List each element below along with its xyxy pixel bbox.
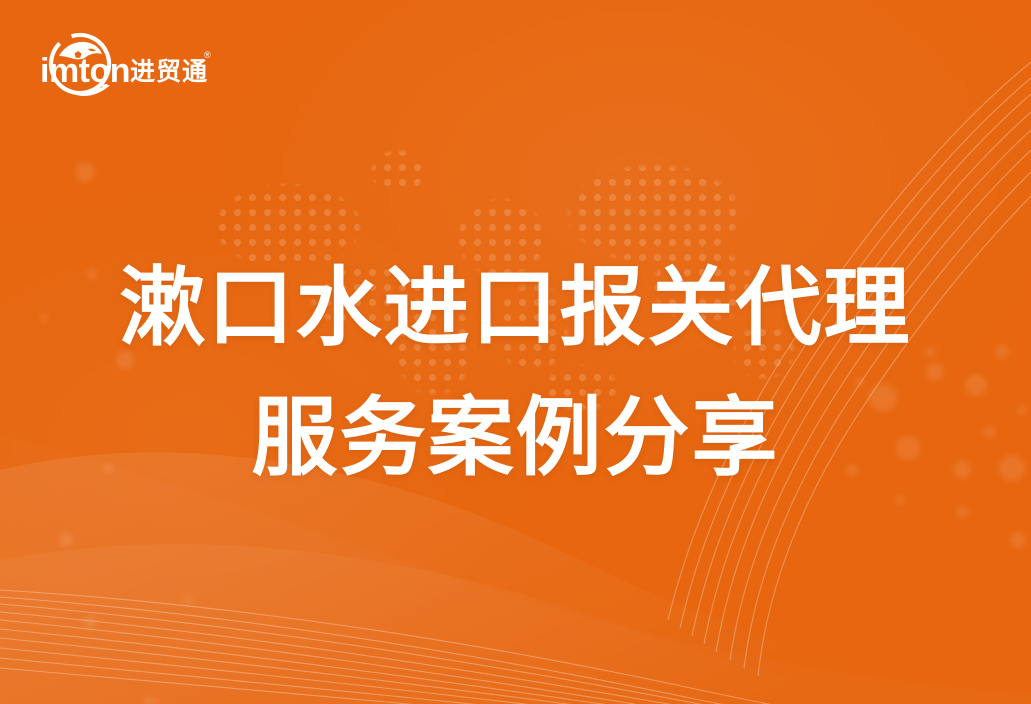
logo-chinese-name: 进贸通	[130, 57, 208, 86]
headline-line-1: 漱口水进口报关代理	[0, 243, 1031, 373]
brand-logo[interactable]: imton 进贸通 ®	[38, 28, 218, 104]
promo-banner: imton 进贸通 ® 漱口水进口报关代理 服务案例分享	[0, 0, 1031, 704]
registered-mark-icon: ®	[204, 50, 211, 60]
logo-wordmark: imton	[40, 52, 130, 90]
headline: 漱口水进口报关代理 服务案例分享	[0, 243, 1031, 503]
headline-line-2: 服务案例分享	[0, 373, 1031, 503]
